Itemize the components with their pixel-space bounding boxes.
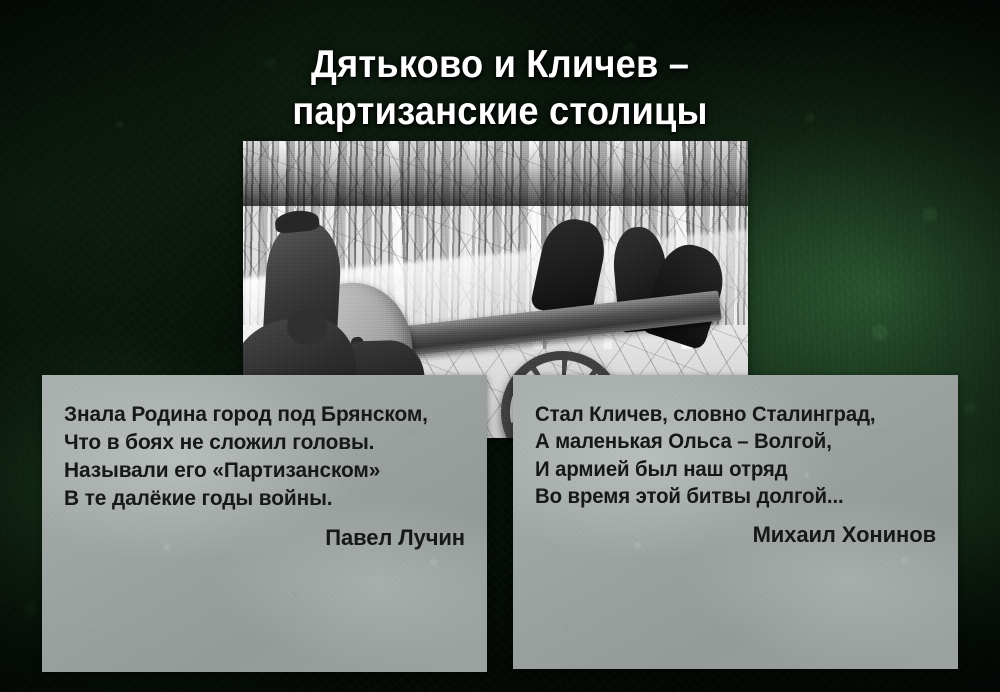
presentation-slide: Дятьково и Кличев – партизанские столицы… [0,0,1000,692]
quote-text-left: Знала Родина город под Брянском, Что в б… [64,401,453,513]
quote-author-right: Михаил Хонинов [535,522,936,548]
slide-title: Дятьково и Кличев – партизанские столицы [35,42,965,136]
quote-text-right: Стал Кличев, словно Сталинград, А малень… [535,401,924,510]
quote-panel-left: Знала Родина город под Брянском, Что в б… [42,375,487,672]
quote-panel-right: Стал Кличев, словно Сталинград, А малень… [513,375,958,669]
quote-author-left: Павел Лучин [64,525,465,551]
